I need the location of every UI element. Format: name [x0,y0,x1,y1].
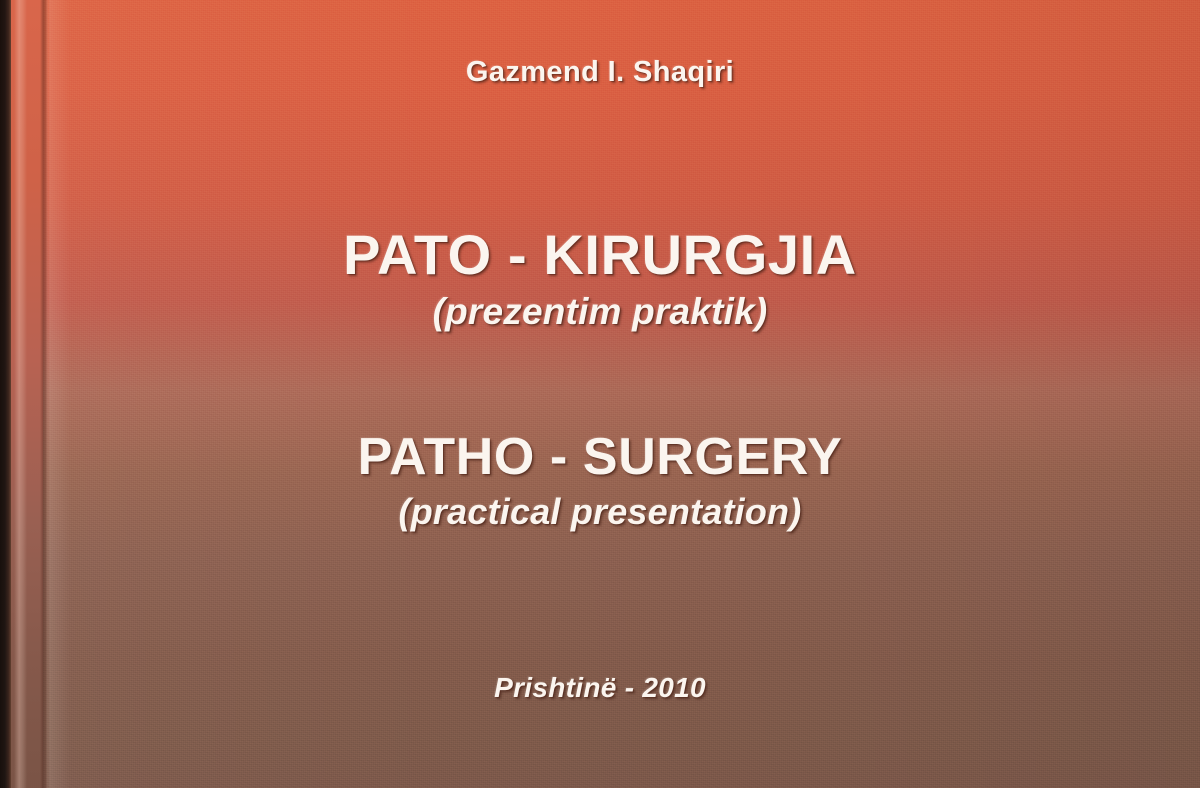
author-name: Gazmend I. Shaqiri [0,56,1200,89]
subtitle-english: (practical presentation) [0,491,1200,533]
imprint-place-year: Prishtinë - 2010 [0,672,1200,704]
title-english: PATHO - SURGERY [0,427,1200,487]
book-cover: Gazmend I. Shaqiri PATO - KIRURGJIA (pre… [0,0,1200,788]
cover-text-layer: Gazmend I. Shaqiri PATO - KIRURGJIA (pre… [0,0,1200,788]
subtitle-albanian: (prezentim praktik) [0,291,1200,333]
title-albanian: PATO - KIRURGJIA [0,222,1200,287]
